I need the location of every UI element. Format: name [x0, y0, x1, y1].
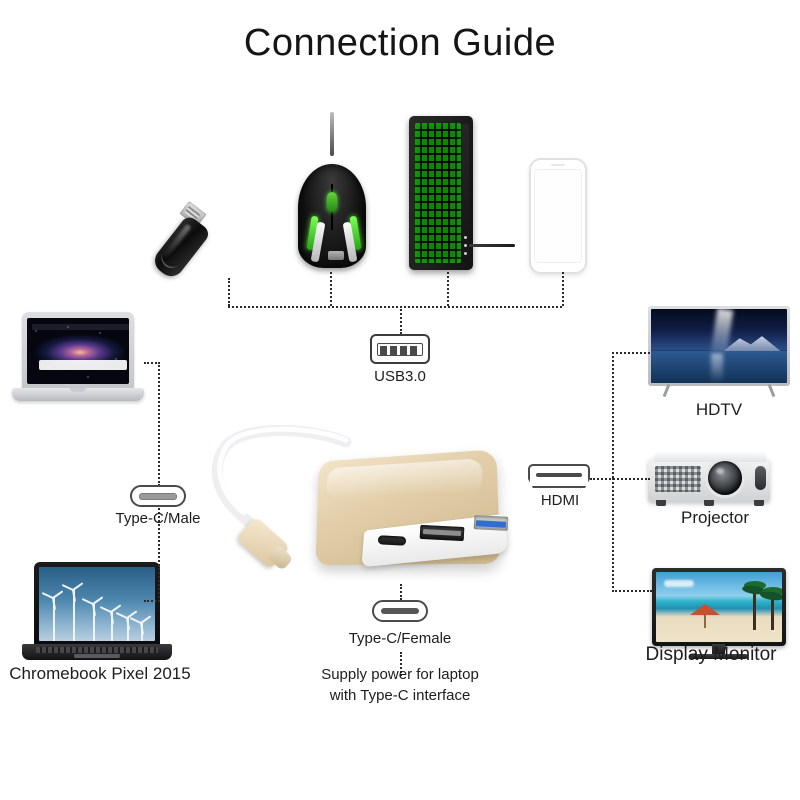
adapter-usb3-port: [474, 515, 509, 531]
monitor-palm-tree-2: [771, 590, 774, 630]
phone-speaker: [551, 164, 565, 166]
hdmi-label: HDMI: [508, 492, 612, 509]
power-note-line-1: Supply power for laptop: [300, 664, 500, 685]
turbine-3: [93, 603, 95, 641]
connector-bus-left-upper: [158, 362, 160, 486]
usb-a-port-icon: [370, 334, 430, 364]
macbook-lid: [22, 312, 134, 390]
hdtv-bezel: [648, 306, 790, 386]
connector-line-phone: [562, 272, 564, 306]
connector-line-mouse: [330, 272, 332, 306]
hdmi-port-icon: [528, 464, 590, 488]
projector: [648, 452, 774, 514]
usb-c-multiport-adapter: [196, 424, 496, 584]
connector-line-hdtv: [612, 352, 650, 354]
monitor-umbrella-pole: [704, 614, 706, 628]
connector-line-to-usb3-icon: [400, 306, 402, 334]
hdtv-label: HDTV: [648, 400, 790, 420]
mouse-scroll-wheel: [327, 192, 337, 212]
hdtv-television: [648, 306, 790, 398]
smartphone: [529, 158, 587, 274]
usb-flash-drive: [176, 196, 246, 276]
macbook-notch: [70, 388, 86, 392]
chromebook-keyboard: [36, 647, 158, 653]
projector-foot-2: [704, 500, 714, 506]
keyboard-keys: [415, 123, 461, 263]
monitor-cloud: [664, 580, 694, 587]
macbook-laptop: [12, 312, 144, 418]
keyboard-led-2: [464, 244, 467, 247]
page-title: Connection Guide: [0, 22, 800, 65]
backlit-keyboard: [409, 116, 473, 270]
turbine-4: [111, 611, 113, 641]
type-c-male-connector-icon: [130, 485, 186, 507]
mouse-logo: [328, 251, 344, 260]
connector-bus-right-lower: [612, 478, 614, 592]
chromebook-screen-turbine-wallpaper: [39, 567, 155, 641]
hdtv-screen-night-sky: [651, 309, 787, 383]
keyboard-side-strip: [462, 124, 469, 262]
monitor-bezel: [652, 568, 786, 646]
type-c-female-connector-icon: [372, 600, 428, 622]
chromebook-trackpad: [74, 654, 120, 658]
projector-foot-1: [656, 500, 666, 506]
adapter-hdmi-port: [420, 525, 465, 541]
mouse-cable: [330, 112, 334, 156]
mouse-shell: [298, 164, 366, 268]
connector-bus-top: [228, 306, 562, 308]
connector-line-to-type-c-female: [400, 584, 402, 600]
turbine-2: [73, 589, 75, 641]
projector-foot-3: [754, 500, 764, 506]
projector-top: [654, 452, 766, 462]
type-c-female-label: Type-C/Female: [330, 630, 470, 647]
monitor-screen-beach-scene: [656, 572, 782, 642]
keyboard-led-1: [464, 236, 467, 239]
macbook-menubar: [32, 324, 129, 330]
connector-line-projector: [590, 478, 650, 480]
power-note-line-2: with Type-C interface: [300, 685, 500, 706]
connector-bus-right-upper: [612, 352, 614, 478]
projector-side-control: [755, 466, 766, 490]
chromebook-label: Chromebook Pixel 2015: [0, 664, 200, 684]
hdtv-reflection: [711, 353, 723, 383]
usb-drive-body: [150, 214, 212, 281]
connector-line-chromebook: [144, 600, 160, 602]
chromebook-lid: [34, 562, 160, 646]
monitor-palm-tree-1: [753, 584, 756, 630]
turbine-5: [127, 617, 129, 641]
adapter-usb-c-port: [378, 535, 406, 545]
keyboard-cable: [469, 244, 515, 247]
projector-vent-grille: [655, 466, 701, 492]
connector-line-monitor: [612, 590, 652, 592]
usb3-label: USB3.0: [330, 368, 470, 385]
display-monitor-label: Display Monitor: [622, 644, 800, 666]
macbook-screen-galaxy-wallpaper: [27, 318, 129, 384]
macbook-dock: [39, 360, 127, 370]
connector-line-keyboard: [447, 272, 449, 306]
connector-line-usb-drive: [228, 278, 230, 306]
projector-label: Projector: [644, 508, 786, 528]
turbine-1: [53, 597, 55, 641]
projector-lens: [708, 461, 742, 495]
phone-screen: [534, 169, 582, 263]
keyboard-led-3: [464, 252, 467, 255]
turbine-6: [141, 622, 143, 641]
gaming-mouse: [292, 146, 372, 270]
chromebook-pixel-laptop: [22, 562, 172, 674]
